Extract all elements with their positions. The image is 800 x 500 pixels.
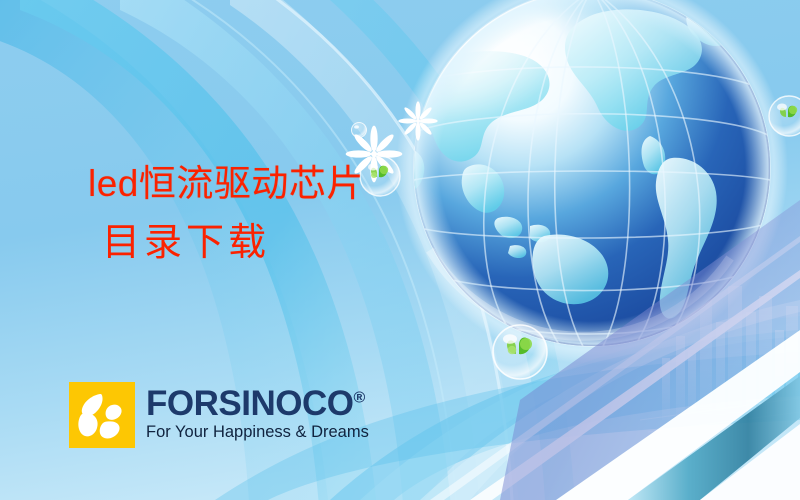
bubble-4 [352,123,367,138]
title-line-1: led恒流驱动芯片 [88,162,364,206]
four-petal-pinwheel-icon [69,382,135,448]
banner-title: led恒流驱动芯片 目录下载 [88,162,364,264]
title-line-2: 目录下载 [102,220,364,265]
logo-text-group: FORSINOCO® For Your Happiness & Dreams [146,382,369,441]
title-line-1-cjk: 恒流驱动芯片 [139,162,364,205]
logo-wordmark: FORSINOCO® [146,386,369,421]
banner-canvas: led恒流驱动芯片 目录下载 FORSINOCO® For Your Happ [0,0,800,500]
forsinoco-logo[interactable]: FORSINOCO® For Your Happiness & Dreams [69,382,369,448]
bubble-2 [493,325,547,379]
bubble-1 [360,156,400,196]
title-line-1-latin: led [88,163,139,204]
logo-tagline: For Your Happiness & Dreams [146,424,369,441]
logo-wordmark-text: FORSINOCO [146,384,353,423]
registered-trademark-icon: ® [353,389,365,406]
